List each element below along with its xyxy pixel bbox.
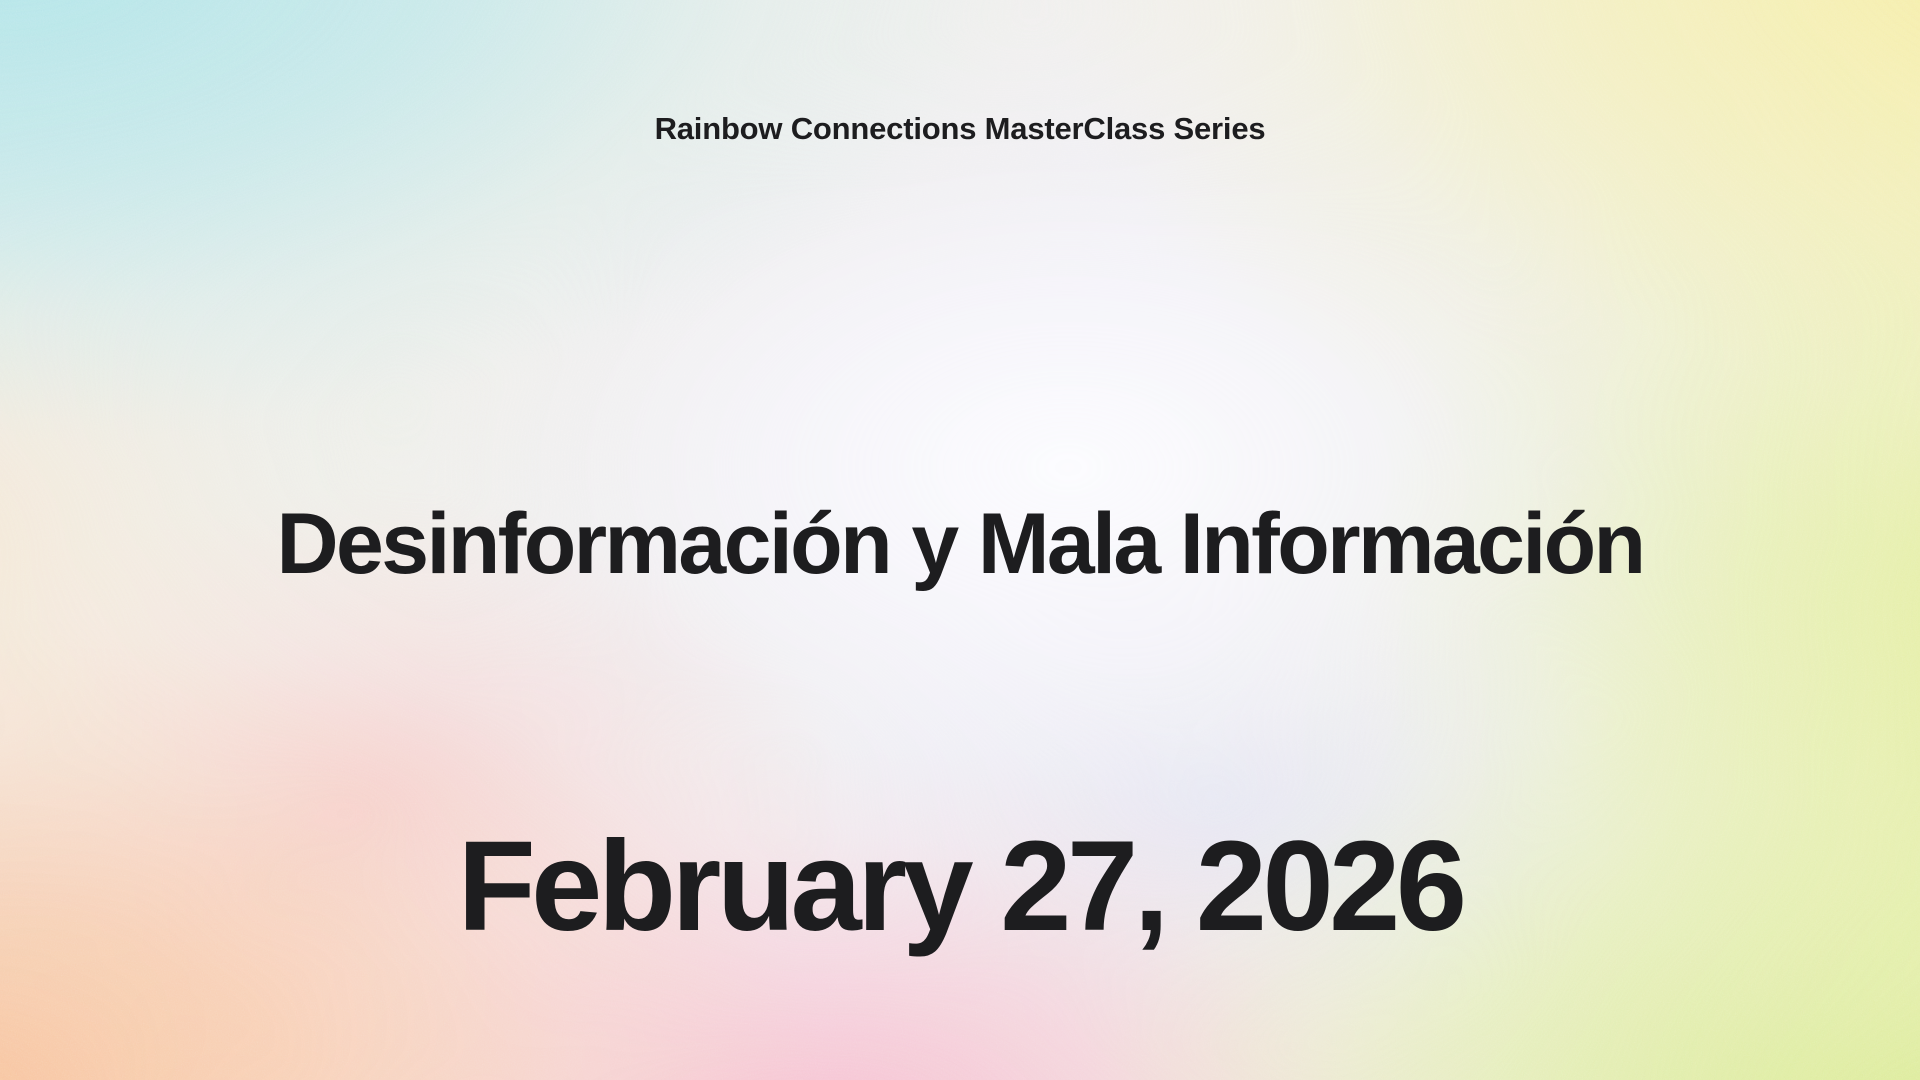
- title-slide: Rainbow Connections MasterClass Series D…: [0, 0, 1920, 1080]
- series-eyebrow: Rainbow Connections MasterClass Series: [0, 110, 1920, 147]
- slide-date: February 27, 2026: [0, 820, 1920, 954]
- slide-content: Rainbow Connections MasterClass Series D…: [0, 0, 1920, 1080]
- slide-title: Desinformación y Mala Información: [0, 498, 1920, 591]
